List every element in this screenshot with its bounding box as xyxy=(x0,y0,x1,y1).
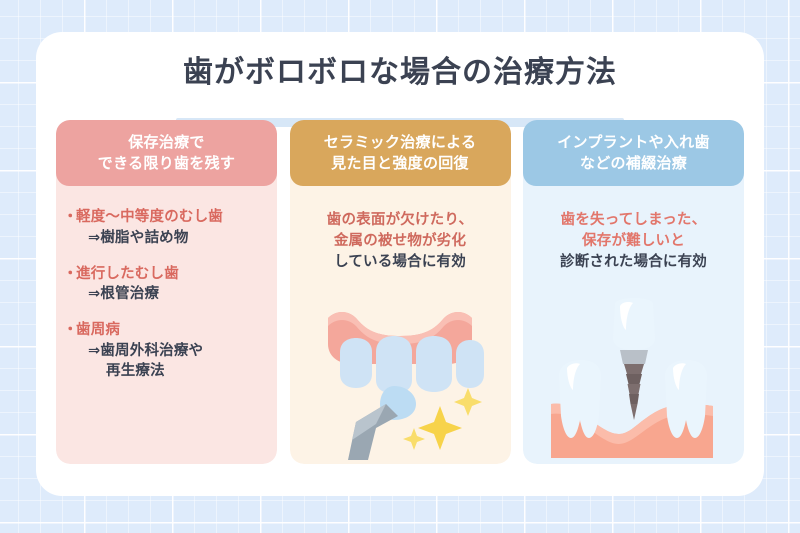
treatment-label: ⇒歯周外科治療や xyxy=(66,341,267,361)
prosthetic-body-line2: 保存が難しいと xyxy=(533,231,734,252)
card-preservation: 保存治療で できる限り歯を残す 軽度〜中等度のむし歯 ⇒樹脂や詰め物 進行したむ… xyxy=(56,120,277,464)
card-preservation-header-line2: できる限り歯を残す xyxy=(98,153,235,174)
card-prosthetic-header: インプラントや入れ歯 などの補綴治療 xyxy=(523,120,744,186)
card-ceramic-header-line1: セラミック治療による xyxy=(324,132,477,153)
prosthetic-body-line1: 歯を失ってしまった、 xyxy=(533,210,734,231)
card-preservation-header-line1: 保存治療で xyxy=(98,132,235,153)
white-panel: 歯がボロボロな場合の治療方法 保存治療で できる限り歯を残す 軽度〜中等度のむし… xyxy=(36,32,764,496)
list-item: 歯周病 ⇒歯周外科治療や 再生療法 xyxy=(66,321,267,381)
cause-label: 歯周病 xyxy=(66,321,267,341)
card-ceramic-header: セラミック治療による 見た目と強度の回復 xyxy=(290,120,511,186)
title-area: 歯がボロボロな場合の治療方法 xyxy=(36,56,764,89)
card-ceramic: セラミック治療による 見た目と強度の回復 歯の表面が欠けたり、 金属の被せ物が劣… xyxy=(290,120,511,464)
ceramic-body-line2: 金属の被せ物が劣化 xyxy=(300,231,501,252)
teeth-gum-dental-tool-illustration xyxy=(290,300,511,464)
card-preservation-content: 軽度〜中等度のむし歯 ⇒樹脂や詰め物 進行したむし歯 ⇒根管治療 歯周病 ⇒歯周… xyxy=(56,186,277,381)
infographic-canvas: 歯がボロボロな場合の治療方法 保存治療で できる限り歯を残す 軽度〜中等度のむし… xyxy=(0,0,800,533)
list-item: 軽度〜中等度のむし歯 ⇒樹脂や詰め物 xyxy=(66,208,267,248)
ceramic-body-line1: 歯の表面が欠けたり、 xyxy=(300,210,501,231)
list-item: 進行したむし歯 ⇒根管治療 xyxy=(66,265,267,305)
card-preservation-header: 保存治療で できる限り歯を残す xyxy=(56,120,277,186)
page-title: 歯がボロボロな場合の治療方法 xyxy=(36,56,764,89)
ceramic-body-line3: している場合に有効 xyxy=(300,252,501,273)
treatment-label-cont: 再生療法 xyxy=(66,361,267,381)
dental-implant-illustration xyxy=(523,298,744,464)
card-ceramic-content: 歯の表面が欠けたり、 金属の被せ物が劣化 している場合に有効 xyxy=(290,186,511,273)
treatment-label: ⇒樹脂や詰め物 xyxy=(66,228,267,248)
card-ceramic-header-line2: 見た目と強度の回復 xyxy=(324,153,477,174)
treatment-cards: 保存治療で できる限り歯を残す 軽度〜中等度のむし歯 ⇒樹脂や詰め物 進行したむ… xyxy=(56,120,744,464)
treatment-label: ⇒根管治療 xyxy=(66,284,267,304)
card-prosthetic-header-line1: インプラントや入れ歯 xyxy=(557,132,710,153)
card-prosthetic: インプラントや入れ歯 などの補綴治療 歯を失ってしまった、 保存が難しいと 診断… xyxy=(523,120,744,464)
prosthetic-body-line3: 診断された場合に有効 xyxy=(533,252,734,273)
cause-label: 進行したむし歯 xyxy=(66,265,267,285)
card-prosthetic-content: 歯を失ってしまった、 保存が難しいと 診断された場合に有効 xyxy=(523,186,744,273)
cause-label: 軽度〜中等度のむし歯 xyxy=(66,208,267,228)
card-prosthetic-header-line2: などの補綴治療 xyxy=(557,153,710,174)
